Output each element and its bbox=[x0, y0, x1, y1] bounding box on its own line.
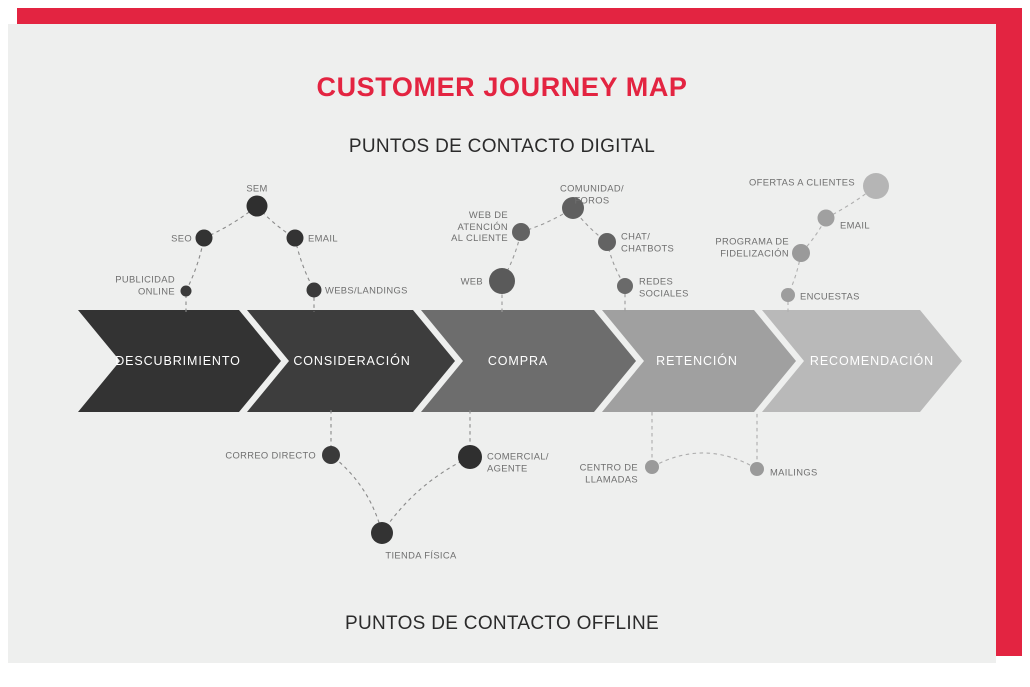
touchpoint-label: CORREO DIRECTO bbox=[225, 449, 316, 461]
touchpoint-label: TIENDA FÍSICA bbox=[385, 549, 456, 561]
touchpoint-dot[interactable] bbox=[750, 462, 764, 476]
touchpoint-label: SEM bbox=[246, 182, 267, 194]
touchpoint-label: CENTRO DE LLAMADAS bbox=[580, 462, 638, 485]
touchpoint-label: SEO bbox=[171, 232, 192, 244]
touchpoint-dot[interactable] bbox=[489, 268, 515, 294]
stage-label-compra: COMPRA bbox=[488, 354, 548, 368]
touchpoint-label: OFERTAS A CLIENTES bbox=[749, 176, 855, 188]
touchpoint-dot[interactable] bbox=[617, 278, 633, 294]
touchpoint-dot[interactable] bbox=[781, 288, 795, 302]
touchpoint-label: CHAT/ CHATBOTS bbox=[621, 231, 674, 254]
stage-label-recomendacin: RECOMENDACIÓN bbox=[810, 354, 934, 368]
touchpoint-dot[interactable] bbox=[598, 233, 616, 251]
touchpoint-dot[interactable] bbox=[307, 283, 322, 298]
touchpoint-dot[interactable] bbox=[645, 460, 659, 474]
touchpoint-label: PUBLICIDAD ONLINE bbox=[115, 274, 175, 297]
touchpoint-label: REDES SOCIALES bbox=[639, 276, 689, 299]
touchpoint-dot[interactable] bbox=[371, 522, 393, 544]
touchpoint-connector-path bbox=[652, 412, 757, 469]
touchpoint-label: ENCUESTAS bbox=[800, 290, 860, 302]
touchpoint-connector-path bbox=[186, 206, 314, 312]
stage-label-descubrimiento: DESCUBRIMIENTO bbox=[115, 354, 241, 368]
touchpoint-dot[interactable] bbox=[792, 244, 810, 262]
touchpoint-dot[interactable] bbox=[818, 210, 835, 227]
touchpoint-dot[interactable] bbox=[247, 196, 268, 217]
touchpoint-label: WEBS/LANDINGS bbox=[325, 284, 408, 296]
stage-label-consideracin: CONSIDERACIÓN bbox=[293, 354, 410, 368]
touchpoint-dot[interactable] bbox=[287, 230, 304, 247]
touchpoint-label: EMAIL bbox=[308, 232, 338, 244]
touchpoint-label: COMUNIDAD/ FOROS bbox=[560, 183, 624, 206]
touchpoint-label: PROGRAMA DE FIDELIZACIÓN bbox=[715, 236, 789, 259]
touchpoint-dot[interactable] bbox=[512, 223, 530, 241]
touchpoint-label: WEB DE ATENCIÓN AL CLIENTE bbox=[451, 209, 508, 244]
touchpoint-dot[interactable] bbox=[322, 446, 340, 464]
touchpoint-label: WEB bbox=[461, 275, 483, 287]
touchpoint-dot[interactable] bbox=[181, 286, 192, 297]
customer-journey-map-canvas: CUSTOMER JOURNEY MAP PUNTOS DE CONTACTO … bbox=[0, 0, 1030, 687]
touchpoint-dot[interactable] bbox=[196, 230, 213, 247]
touchpoint-label: EMAIL bbox=[840, 219, 870, 231]
stage-label-retencin: RETENCIÓN bbox=[656, 354, 738, 368]
touchpoint-label: MAILINGS bbox=[770, 466, 818, 478]
touchpoint-connector-path bbox=[331, 410, 470, 533]
touchpoint-label: COMERCIAL/ AGENTE bbox=[487, 451, 549, 474]
touchpoint-dot[interactable] bbox=[458, 445, 482, 469]
journey-graphics-layer bbox=[0, 0, 1030, 687]
touchpoint-dot[interactable] bbox=[863, 173, 889, 199]
